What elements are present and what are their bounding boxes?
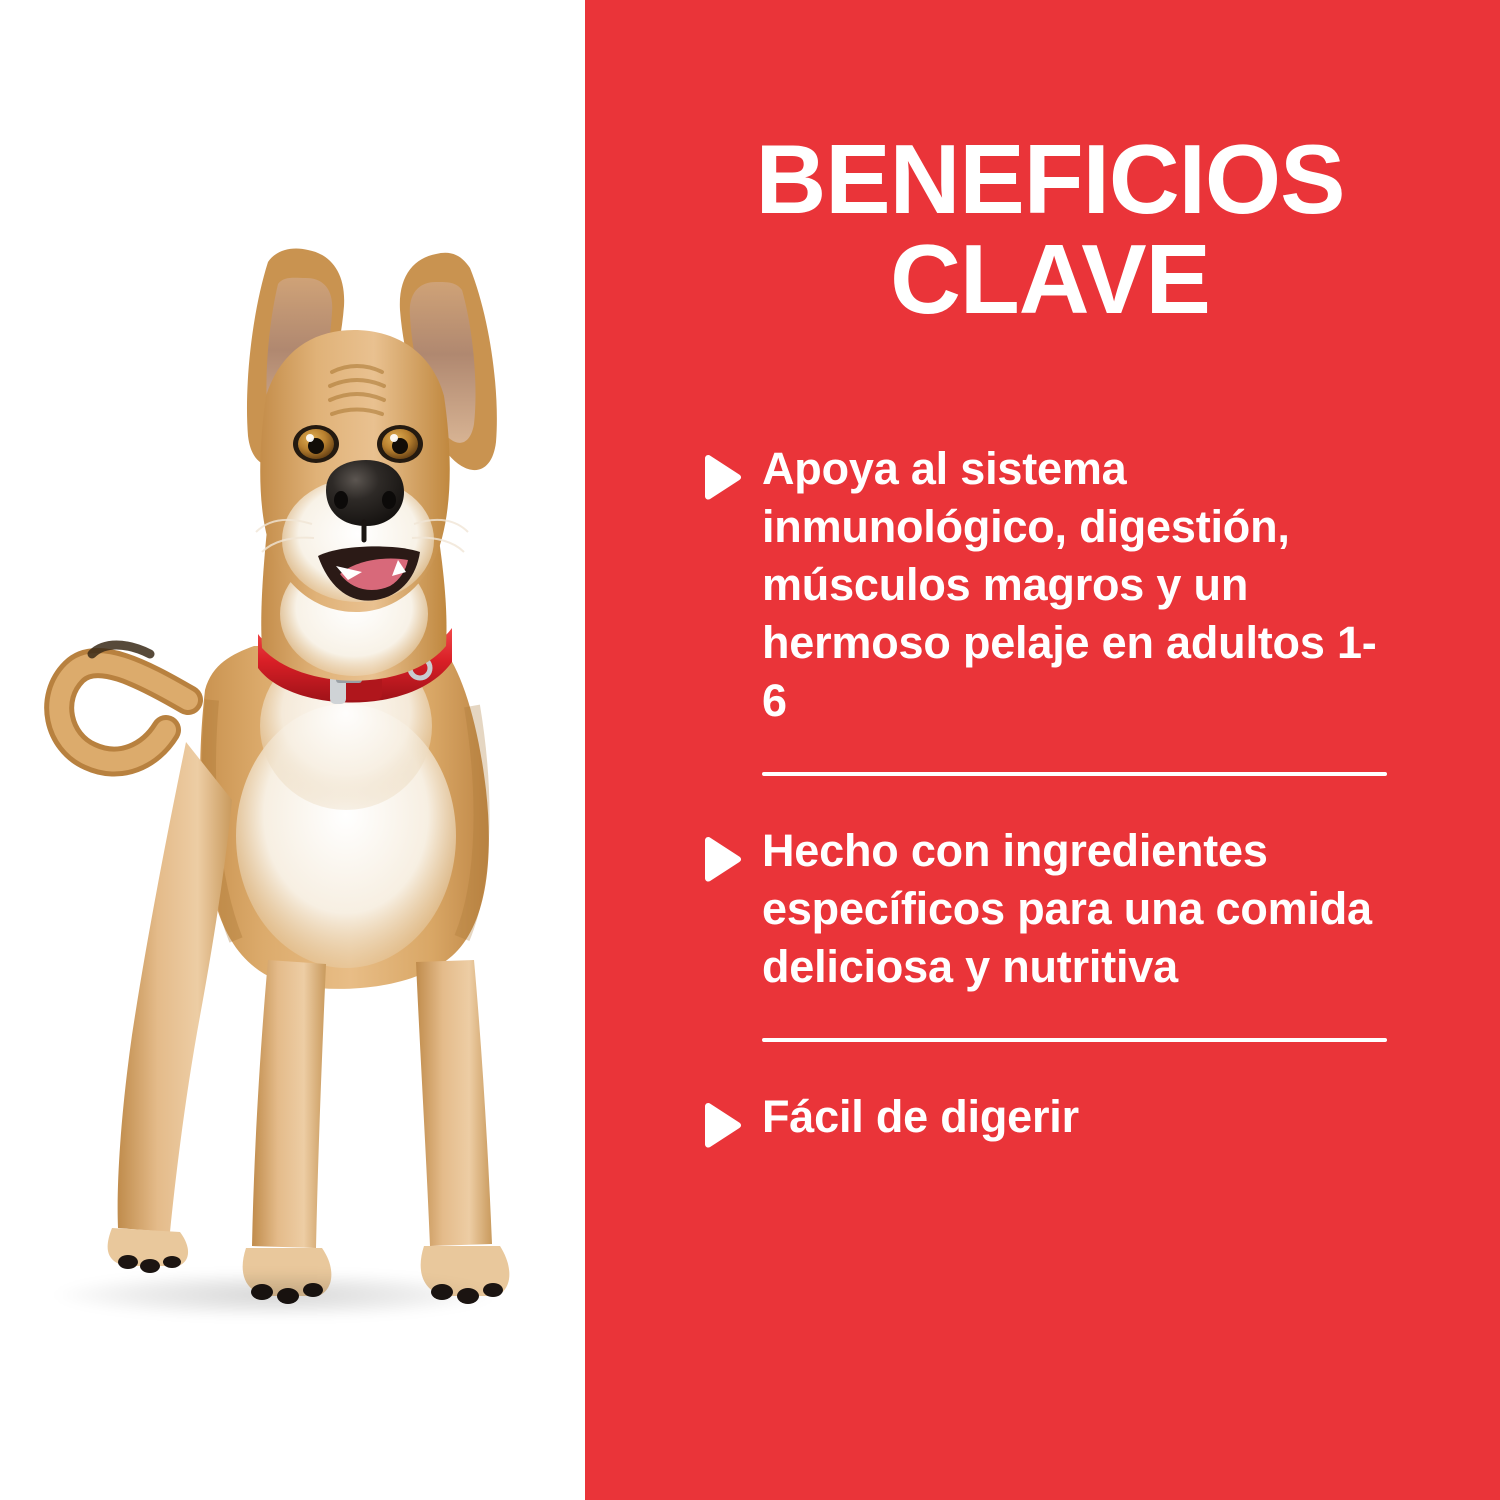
benefit-item: Hecho con ingredientes específicos para … — [700, 822, 1500, 996]
dog-ground-shadow — [55, 1272, 495, 1318]
benefit-text: Hecho con ingredientes específicos para … — [762, 822, 1377, 996]
page-title: BENEFICIOS CLAVE — [660, 130, 1440, 330]
benefits-poster: BENEFICIOS CLAVE Apoya al sistema inmuno… — [0, 0, 1500, 1500]
play-triangle-icon — [700, 440, 762, 500]
dog-photo-panel — [0, 0, 585, 1500]
title-line-2: CLAVE — [660, 230, 1440, 330]
benefit-item: Apoya al sistema inmunológico, digestión… — [700, 440, 1500, 730]
benefit-item: Fácil de digerir — [700, 1088, 1500, 1148]
play-triangle-icon — [700, 1088, 762, 1148]
title-line-1: BENEFICIOS — [660, 130, 1440, 230]
dog-tail — [59, 645, 188, 762]
benefit-text: Apoya al sistema inmunológico, digestión… — [762, 440, 1377, 730]
benefit-text: Fácil de digerir — [762, 1088, 1079, 1146]
key-benefits-panel: BENEFICIOS CLAVE Apoya al sistema inmuno… — [585, 0, 1500, 1500]
play-triangle-icon — [700, 822, 762, 882]
benefits-list: Apoya al sistema inmunológico, digestión… — [700, 440, 1500, 1148]
